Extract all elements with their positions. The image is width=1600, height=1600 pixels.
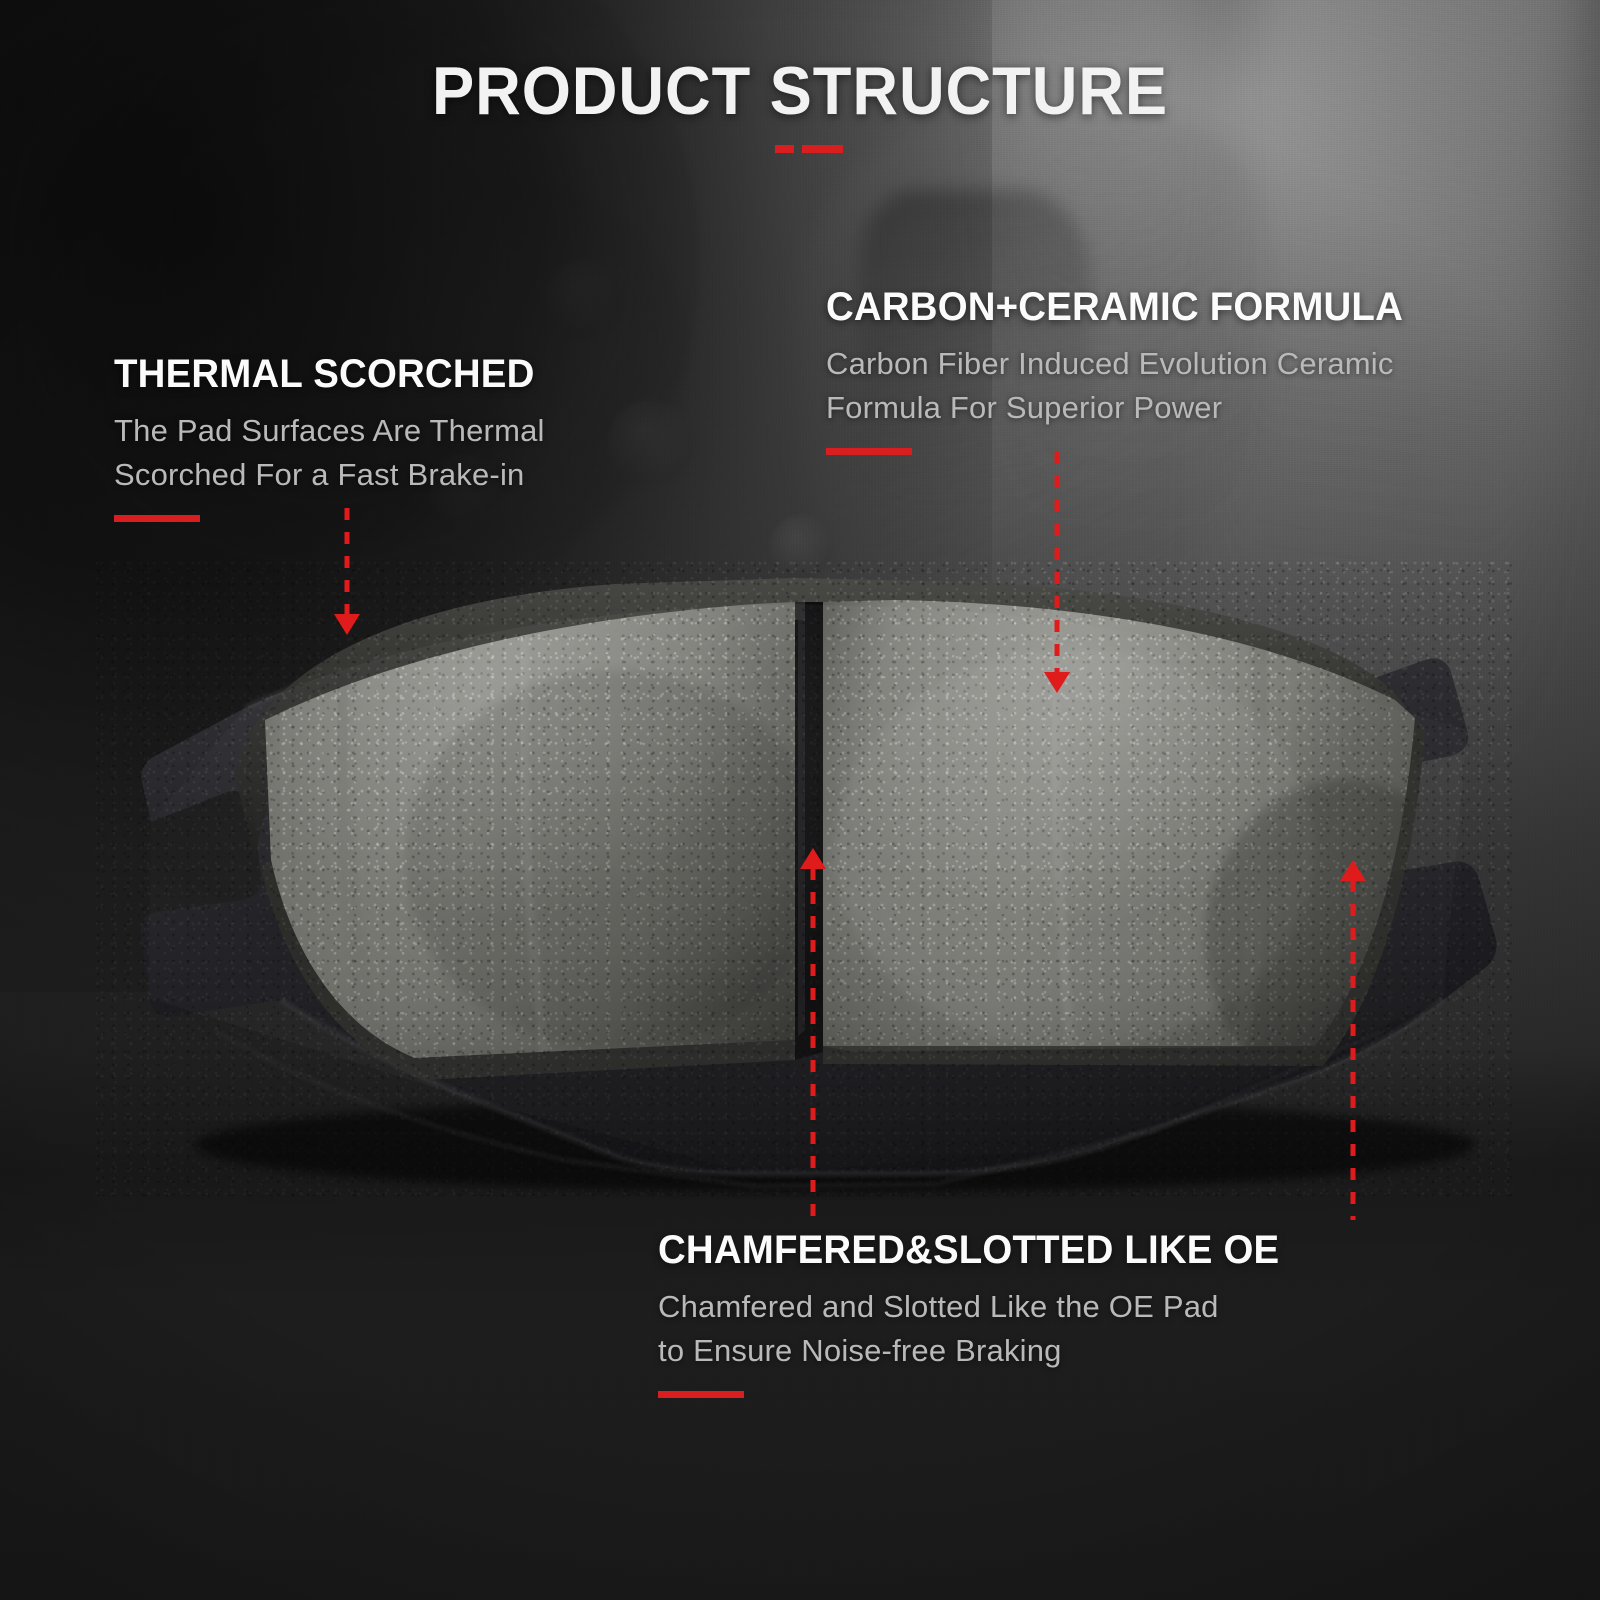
- callout-body-line1: Chamfered and Slotted Like the OE Pad: [658, 1289, 1219, 1324]
- dashed-line: [1055, 452, 1060, 674]
- callout-body-line2: Formula For Superior Power: [826, 390, 1222, 425]
- callout-body: The Pad Surfaces Are ThermalScorched For…: [114, 409, 674, 497]
- callout-body-line2: Scorched For a Fast Brake-in: [114, 457, 524, 492]
- arrow-up-icon: [1340, 860, 1366, 881]
- page-title: PRODUCT STRUCTURE: [56, 52, 1544, 130]
- callout-heading: CHAMFERED&SLOTTED LIKE OE: [658, 1228, 1388, 1273]
- callout-heading: THERMAL SCORCHED: [114, 352, 652, 397]
- product-structure-infographic: PRODUCT STRUCTURE THERMAL SCORCHED The P…: [0, 0, 1600, 1600]
- arrow-down-icon: [334, 614, 360, 635]
- callout-body-line2: to Ensure Noise-free Braking: [658, 1333, 1062, 1368]
- dashed-line: [1351, 880, 1356, 1220]
- title-dash-short: [775, 145, 794, 153]
- callout-accent-bar: [658, 1391, 744, 1398]
- leader-line-slot: [798, 848, 828, 1220]
- leader-line-carbon-ceramic: [1042, 452, 1072, 702]
- callout-heading: CARBON+CERAMIC FORMULA: [826, 285, 1517, 330]
- title-accent-dashes: [775, 145, 843, 153]
- callout-body-line1: Carbon Fiber Induced Evolution Ceramic: [826, 346, 1394, 381]
- callout-accent-bar: [826, 448, 912, 455]
- leader-line-chamfer: [1338, 860, 1368, 1220]
- leader-line-thermal-scorched: [332, 508, 362, 643]
- callout-body: Chamfered and Slotted Like the OE Padto …: [658, 1285, 1418, 1373]
- arrow-down-icon: [1044, 672, 1070, 693]
- title-dash-long: [802, 145, 843, 153]
- callout-body: Carbon Fiber Induced Evolution CeramicFo…: [826, 342, 1546, 430]
- callout-thermal-scorched: THERMAL SCORCHED The Pad Surfaces Are Th…: [114, 352, 674, 522]
- callout-chamfered-slotted: CHAMFERED&SLOTTED LIKE OE Chamfered and …: [658, 1228, 1418, 1398]
- callout-carbon-ceramic-formula: CARBON+CERAMIC FORMULA Carbon Fiber Indu…: [826, 285, 1546, 455]
- callout-body-line1: The Pad Surfaces Are Thermal: [114, 413, 545, 448]
- callout-accent-bar: [114, 515, 200, 522]
- dashed-line: [811, 868, 816, 1220]
- dashed-line: [345, 508, 350, 616]
- arrow-up-icon: [800, 848, 826, 869]
